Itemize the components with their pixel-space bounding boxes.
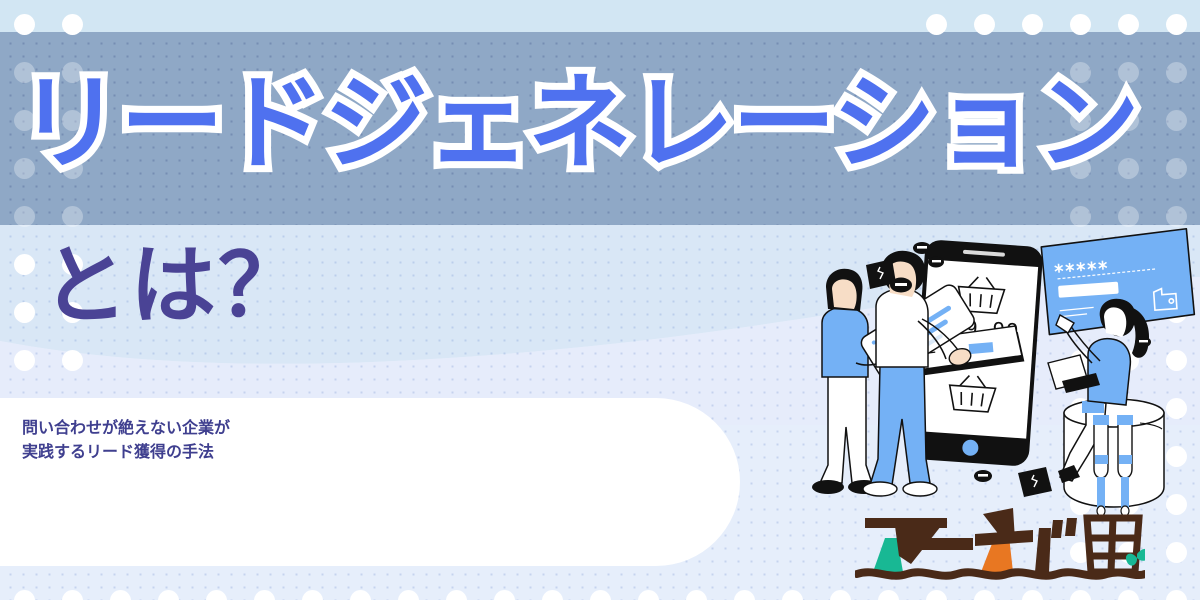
lead-text-line-1: 問い合わせが絶えない企業が	[22, 416, 702, 440]
background-top-strip	[0, 0, 1200, 32]
main-title-text: リードジェネレーション	[18, 71, 1138, 175]
subtitle-text: とは？	[42, 243, 306, 329]
ecommerce-checkout-illustration: $99.99	[770, 215, 1200, 515]
lead-text-line-2: 実践するリード獲得の手法	[22, 440, 702, 464]
banner-canvas: リードジェネレーション とは？ 問い合わせが絶えない企業が 実践するリード獲得の…	[0, 0, 1200, 600]
main-title: リードジェネレーション	[18, 48, 1188, 198]
lead-text: 問い合わせが絶えない企業が 実践するリード獲得の手法	[22, 416, 702, 463]
site-logo[interactable]: マーケ畑	[855, 498, 1145, 588]
money-bag-icon-2	[1018, 467, 1052, 497]
